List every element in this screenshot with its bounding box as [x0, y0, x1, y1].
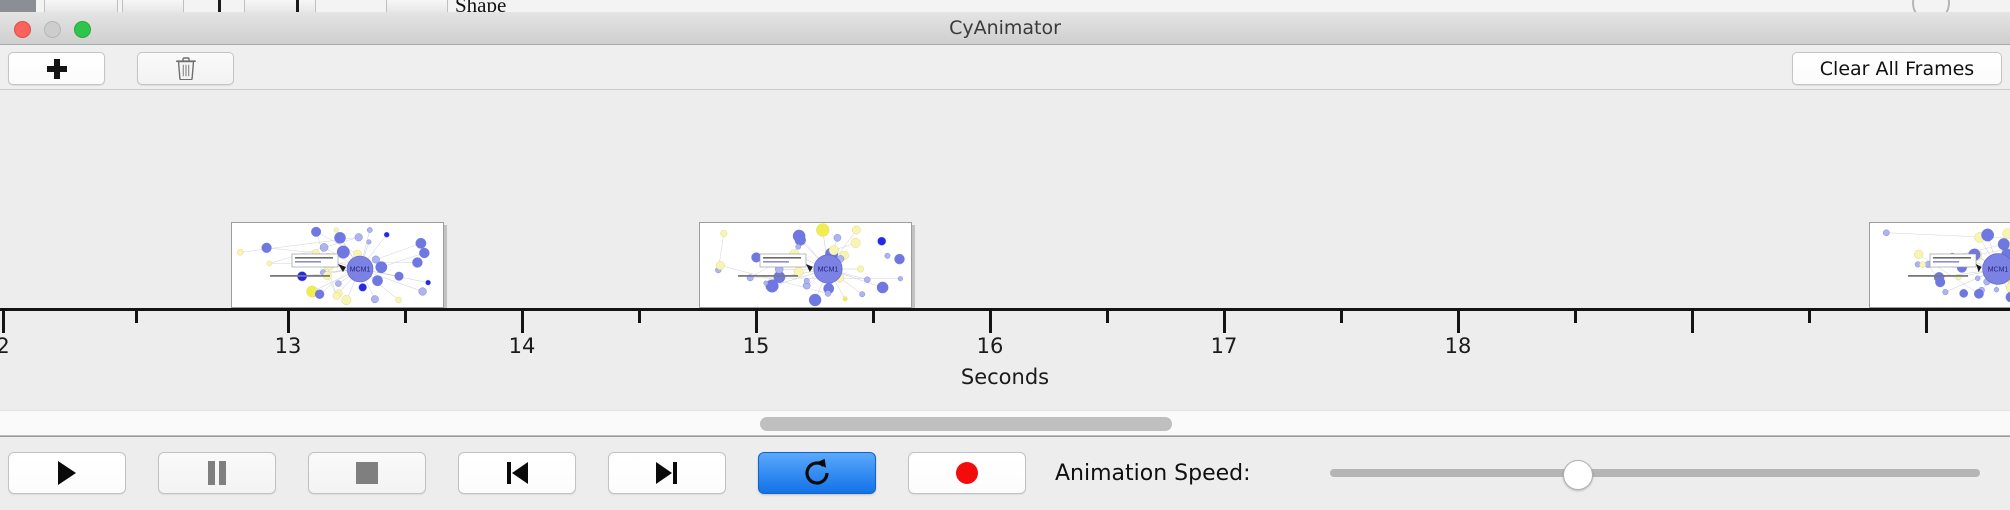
ruler-tick-major — [287, 311, 290, 333]
background-tab — [44, 0, 118, 12]
ruler-tick-label: 16 — [977, 334, 1004, 358]
ruler-tick-minor — [1106, 311, 1109, 323]
skip-to-end-button[interactable] — [608, 452, 726, 494]
svg-text:MCM1: MCM1 — [1988, 267, 2009, 274]
skip-backward-icon — [503, 459, 531, 487]
window-title: CyAnimator — [0, 12, 2010, 45]
timeline-ruler[interactable]: 2131415161718 Seconds — [0, 308, 2010, 410]
ruler-tick-label: 2 — [0, 334, 10, 358]
network-graph-preview: MCM1 — [232, 223, 443, 307]
ruler-tick-major — [521, 311, 524, 333]
record-button[interactable] — [908, 452, 1026, 494]
background-dark-block — [0, 0, 36, 12]
playback-control-bar: Animation Speed: — [0, 436, 2010, 510]
ruler-tick-major — [1925, 311, 1928, 333]
timeline-scrollbar-track[interactable] — [0, 410, 2010, 436]
ruler-tick-major — [1223, 311, 1226, 333]
toolbar: Clear All Frames — [0, 45, 2010, 90]
ruler-tick-major — [989, 311, 992, 333]
cyanimator-window: Shape CyAnimator Clear All Frames MCM1MC… — [0, 0, 2010, 510]
svg-text:MCM1: MCM1 — [818, 267, 839, 274]
loop-button[interactable] — [758, 452, 876, 494]
ruler-tick-minor — [135, 311, 138, 323]
stop-icon — [355, 461, 379, 485]
pause-button[interactable] — [158, 452, 276, 494]
ruler-tick-major — [2, 311, 5, 333]
ruler-tick-label: 17 — [1211, 334, 1238, 358]
ruler-tick-label: 15 — [743, 334, 770, 358]
add-frame-button[interactable] — [8, 52, 105, 85]
ruler-tick-minor — [872, 311, 875, 323]
background-tab — [386, 0, 448, 12]
background-window-strip: Shape — [0, 0, 2010, 12]
background-mark — [296, 0, 299, 12]
frame-thumbnail-area[interactable]: MCM1MCM1MCM1 — [0, 90, 2010, 308]
svg-text:MCM1: MCM1 — [350, 267, 371, 274]
background-shape-label: Shape — [455, 0, 506, 12]
play-button[interactable] — [8, 452, 126, 494]
frame-thumbnail-3[interactable]: MCM1 — [1869, 222, 2010, 308]
skip-forward-icon — [653, 459, 681, 487]
timeline-scrollbar-thumb[interactable] — [760, 417, 1172, 431]
ruler-tick-minor — [638, 311, 641, 323]
background-mark — [218, 0, 221, 12]
title-bar: CyAnimator — [0, 12, 2010, 45]
plus-icon — [46, 58, 68, 80]
ruler-tick-minor — [404, 311, 407, 323]
clear-all-frames-button[interactable]: Clear All Frames — [1792, 52, 2002, 85]
background-tab — [122, 0, 184, 12]
axis-title: Seconds — [0, 365, 2010, 389]
ruler-tick-minor — [1340, 311, 1343, 323]
slider-thumb[interactable] — [1563, 460, 1593, 490]
slider-track[interactable] — [1330, 469, 1980, 477]
pause-icon — [205, 460, 229, 486]
animation-speed-label: Animation Speed: — [1055, 437, 1251, 510]
ruler-baseline — [0, 308, 2010, 311]
ruler-tick-label: 13 — [275, 334, 302, 358]
play-icon — [54, 459, 80, 487]
network-graph-preview: MCM1 — [1870, 223, 2010, 307]
network-graph-preview: MCM1 — [700, 223, 911, 307]
record-icon — [954, 460, 980, 486]
delete-frame-button[interactable] — [137, 52, 234, 85]
frame-thumbnail-2[interactable]: MCM1 — [699, 222, 912, 308]
ruler-tick-minor — [1808, 311, 1811, 323]
ruler-tick-major — [1457, 311, 1460, 333]
ruler-tick-minor — [1574, 311, 1577, 323]
ruler-tick-major — [755, 311, 758, 333]
frame-thumbnail-1[interactable]: MCM1 — [231, 222, 444, 308]
background-tab — [244, 0, 316, 12]
ruler-tick-label: 18 — [1445, 334, 1472, 358]
trash-icon — [176, 57, 196, 80]
ruler-tick-major — [1691, 311, 1694, 333]
animation-speed-slider[interactable] — [1330, 437, 1980, 510]
skip-to-start-button[interactable] — [458, 452, 576, 494]
background-circle-icon — [1912, 0, 1950, 12]
stop-button[interactable] — [308, 452, 426, 494]
loop-icon — [802, 458, 832, 488]
ruler-tick-label: 14 — [509, 334, 536, 358]
